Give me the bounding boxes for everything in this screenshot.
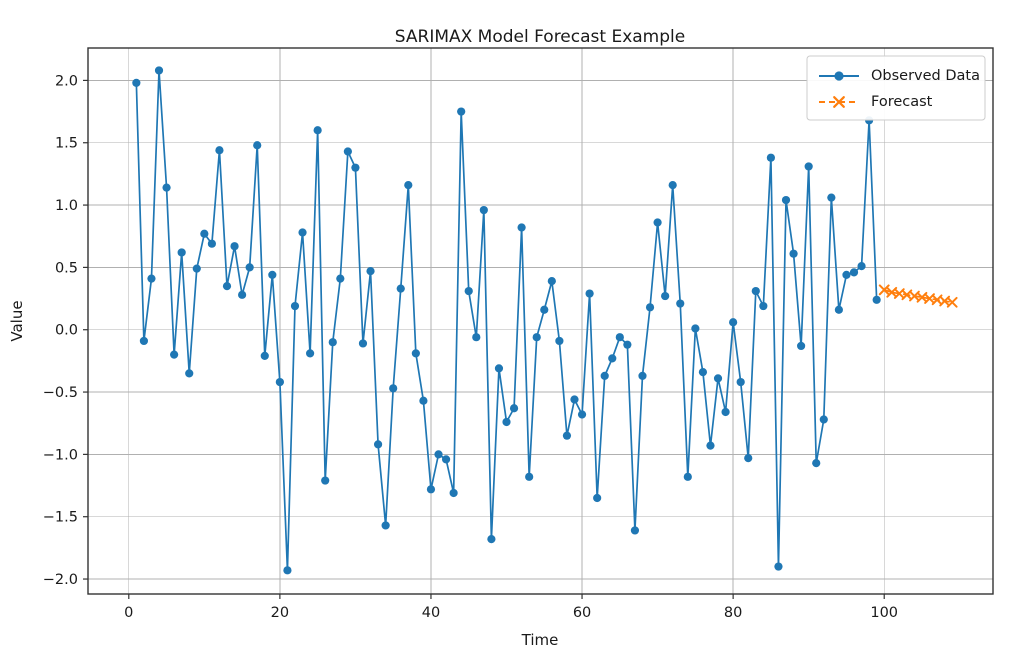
data-point-marker — [820, 415, 828, 423]
y-axis-label: Value — [8, 300, 26, 341]
data-point-marker — [812, 459, 820, 467]
data-point-marker — [684, 473, 692, 481]
data-point-marker — [570, 395, 578, 403]
data-point-marker — [351, 164, 359, 172]
x-tick-label: 60 — [573, 605, 591, 621]
data-point-marker — [359, 339, 367, 347]
chart-title: SARIMAX Model Forecast Example — [395, 27, 685, 47]
x-tick-label: 0 — [124, 605, 133, 621]
data-point-marker — [208, 240, 216, 248]
data-point-marker — [714, 374, 722, 382]
data-point-marker — [752, 287, 760, 295]
data-point-marker — [419, 397, 427, 405]
data-point-marker — [774, 562, 782, 570]
data-point-marker — [744, 454, 752, 462]
data-point-marker — [404, 181, 412, 189]
data-point-marker — [434, 450, 442, 458]
legend-background — [807, 56, 985, 120]
data-point-marker — [721, 408, 729, 416]
x-tick-label: 100 — [870, 605, 898, 621]
data-point-marker — [132, 79, 140, 87]
data-point-marker — [782, 196, 790, 204]
data-point-marker — [298, 228, 306, 236]
data-point-marker — [548, 277, 556, 285]
data-point-marker — [653, 218, 661, 226]
data-point-marker — [170, 351, 178, 359]
y-tick-label: 1.5 — [55, 136, 78, 152]
data-point-marker — [450, 489, 458, 497]
data-point-marker — [669, 181, 677, 189]
data-point-marker — [480, 206, 488, 214]
data-point-marker — [661, 292, 669, 300]
data-point-marker — [842, 271, 850, 279]
data-point-marker — [759, 302, 767, 310]
data-point-marker — [291, 302, 299, 310]
data-point-marker — [344, 147, 352, 155]
data-point-marker — [389, 384, 397, 392]
legend-marker-circle-icon — [834, 71, 843, 80]
data-point-marker — [261, 352, 269, 360]
y-tick-label: −1.5 — [43, 510, 78, 526]
x-tick-label: 20 — [271, 605, 289, 621]
data-point-marker — [593, 494, 601, 502]
x-tick-label: 80 — [724, 605, 742, 621]
data-point-marker — [223, 282, 231, 290]
data-point-marker — [510, 404, 518, 412]
data-point-marker — [382, 521, 390, 529]
data-point-marker — [767, 154, 775, 162]
legend-label: Forecast — [871, 94, 933, 110]
data-point-marker — [495, 364, 503, 372]
data-point-marker — [805, 162, 813, 170]
data-point-marker — [321, 476, 329, 484]
data-point-marker — [533, 333, 541, 341]
data-point-marker — [230, 242, 238, 250]
figure-canvas: SARIMAX Model Forecast Example 020406080… — [0, 0, 1024, 662]
data-point-marker — [472, 333, 480, 341]
data-point-marker — [797, 342, 805, 350]
data-point-marker — [631, 526, 639, 534]
data-point-marker — [185, 369, 193, 377]
x-tick-label: 40 — [422, 605, 440, 621]
data-point-marker — [646, 303, 654, 311]
data-point-marker — [162, 184, 170, 192]
data-point-marker — [835, 306, 843, 314]
data-point-marker — [246, 263, 254, 271]
data-point-marker — [276, 378, 284, 386]
y-tick-label: −0.5 — [43, 385, 78, 401]
data-point-marker — [155, 66, 163, 74]
data-point-marker — [850, 268, 858, 276]
data-point-marker — [601, 372, 609, 380]
data-point-marker — [427, 485, 435, 493]
data-point-marker — [442, 455, 450, 463]
data-point-marker — [691, 324, 699, 332]
data-point-marker — [857, 262, 865, 270]
y-tick-label: 1.0 — [55, 198, 78, 214]
data-point-marker — [518, 223, 526, 231]
data-point-marker — [329, 338, 337, 346]
data-point-marker — [563, 432, 571, 440]
data-point-marker — [586, 289, 594, 297]
data-point-marker — [140, 337, 148, 345]
data-point-marker — [193, 265, 201, 273]
data-point-marker — [268, 271, 276, 279]
data-point-marker — [253, 141, 261, 149]
data-point-marker — [314, 126, 322, 134]
data-point-marker — [412, 349, 420, 357]
data-point-marker — [502, 418, 510, 426]
data-point-marker — [578, 410, 586, 418]
chart-legend[interactable]: Observed DataForecast — [807, 56, 985, 120]
y-tick-label: 0.5 — [55, 260, 78, 276]
data-point-marker — [789, 250, 797, 258]
data-point-marker — [283, 566, 291, 574]
data-point-marker — [540, 306, 548, 314]
data-point-marker — [336, 275, 344, 283]
data-point-marker — [397, 284, 405, 292]
data-point-marker — [616, 333, 624, 341]
data-point-marker — [178, 248, 186, 256]
data-point-marker — [457, 107, 465, 115]
data-point-marker — [676, 299, 684, 307]
data-point-marker — [306, 349, 314, 357]
y-tick-label: −1.0 — [43, 447, 78, 463]
data-point-marker — [200, 230, 208, 238]
sarimax-forecast-chart: SARIMAX Model Forecast Example 020406080… — [0, 0, 1024, 662]
data-point-marker — [238, 291, 246, 299]
data-point-marker — [215, 146, 223, 154]
data-point-marker — [699, 368, 707, 376]
y-tick-label: −2.0 — [43, 572, 78, 588]
data-point-marker — [729, 318, 737, 326]
x-axis-label: Time — [521, 631, 559, 649]
y-tick-label: 2.0 — [55, 73, 78, 89]
data-point-marker — [638, 372, 646, 380]
data-point-marker — [374, 440, 382, 448]
data-point-marker — [465, 287, 473, 295]
data-point-marker — [737, 378, 745, 386]
data-point-marker — [147, 275, 155, 283]
data-point-marker — [873, 296, 881, 304]
data-point-marker — [706, 442, 714, 450]
legend-label: Observed Data — [871, 68, 980, 84]
data-point-marker — [555, 337, 563, 345]
y-tick-label: 0.0 — [55, 323, 78, 339]
data-point-marker — [623, 341, 631, 349]
data-point-marker — [827, 193, 835, 201]
data-point-marker — [487, 535, 495, 543]
data-point-marker — [366, 267, 374, 275]
data-point-marker — [525, 473, 533, 481]
data-point-marker — [608, 354, 616, 362]
